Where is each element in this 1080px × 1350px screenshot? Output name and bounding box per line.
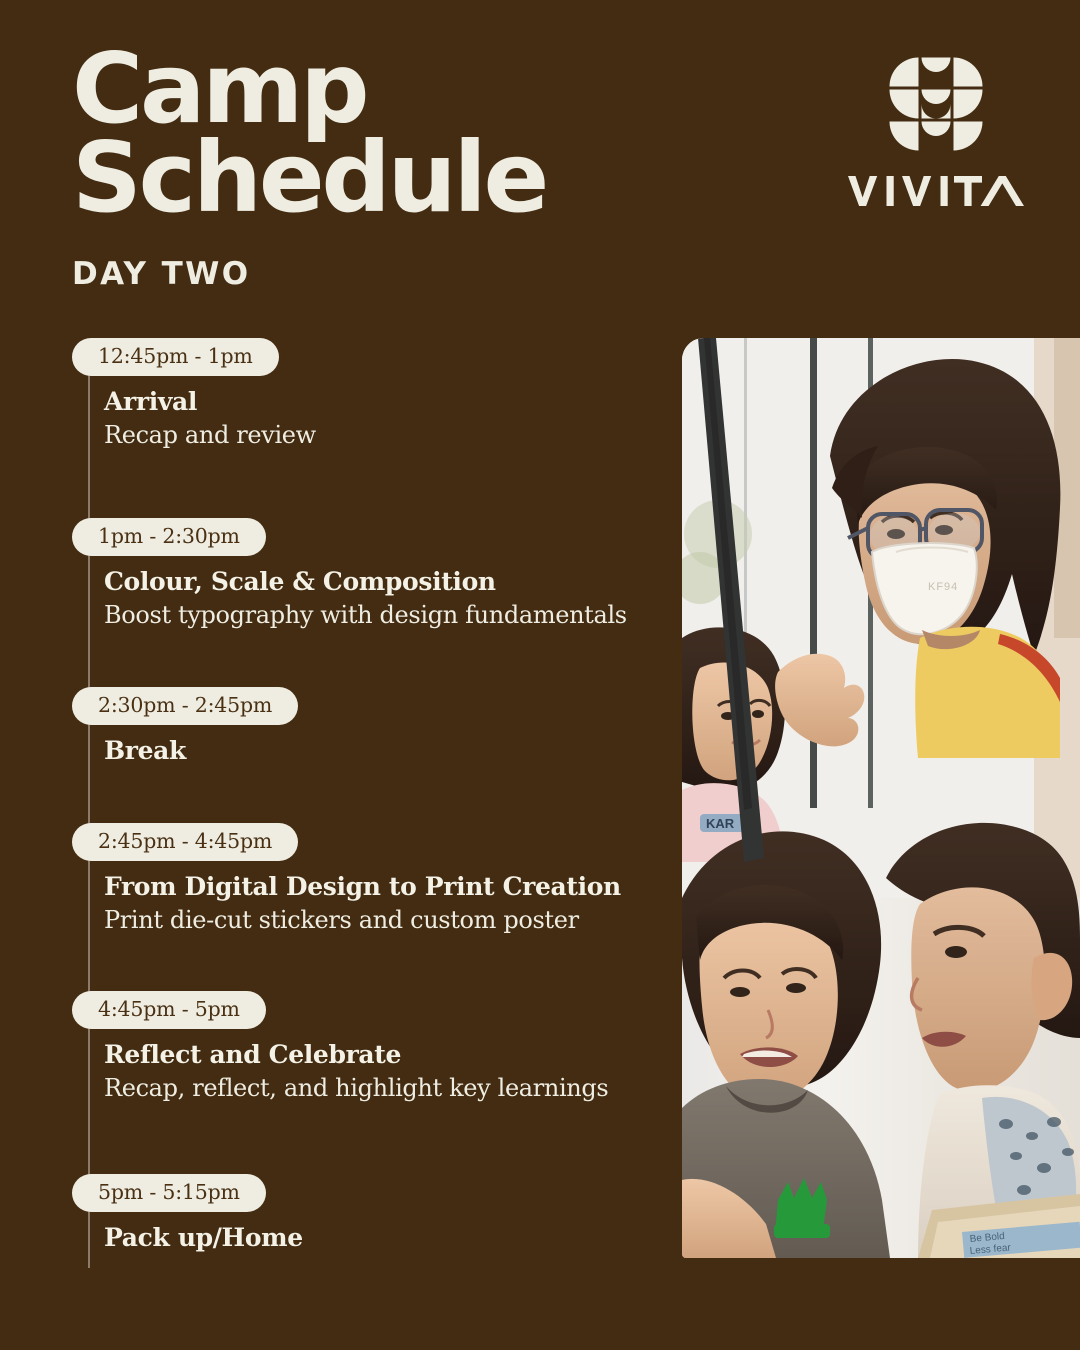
vivita-wordmark <box>848 174 1024 208</box>
time-badge: 4:45pm - 5pm <box>72 991 266 1029</box>
item-title: Reflect and Celebrate <box>104 1039 672 1070</box>
page-subtitle: DAY TWO <box>72 256 692 292</box>
poster-root: Camp Schedule DAY TWO <box>0 0 1080 1350</box>
item-description: Recap, reflect, and highlight key learni… <box>104 1073 672 1104</box>
schedule-item[interactable]: 12:45pm - 1pm Arrival Recap and review <box>72 338 672 451</box>
item-description: Recap and review <box>104 420 672 451</box>
schedule-item[interactable]: 2:30pm - 2:45pm Break <box>72 687 672 769</box>
brand-logo <box>848 56 1024 208</box>
item-description: Boost typography with design fundamental… <box>104 600 672 631</box>
item-title: Colour, Scale & Composition <box>104 566 672 597</box>
vivita-flower-icon <box>888 56 984 152</box>
schedule-item[interactable]: 1pm - 2:30pm Colour, Scale & Composition… <box>72 518 672 631</box>
camp-photo-illustration: KF94 KAR <box>682 338 1080 1258</box>
title-block: Camp Schedule DAY TWO <box>72 44 692 292</box>
item-body: From Digital Design to Print Creation Pr… <box>72 871 672 936</box>
schedule-item[interactable]: 5pm - 5:15pm Pack up/Home <box>72 1174 672 1256</box>
schedule-item[interactable]: 2:45pm - 4:45pm From Digital Design to P… <box>72 823 672 936</box>
item-body: Colour, Scale & Composition Boost typogr… <box>72 566 672 631</box>
item-title: Arrival <box>104 386 672 417</box>
item-body: Break <box>72 735 672 766</box>
item-body: Pack up/Home <box>72 1222 672 1253</box>
schedule-item[interactable]: 4:45pm - 5pm Reflect and Celebrate Recap… <box>72 991 672 1104</box>
item-title: From Digital Design to Print Creation <box>104 871 672 902</box>
timeline-rail <box>88 344 90 1268</box>
time-badge: 12:45pm - 1pm <box>72 338 279 376</box>
item-body: Arrival Recap and review <box>72 386 672 451</box>
item-body: Reflect and Celebrate Recap, reflect, an… <box>72 1039 672 1104</box>
time-badge: 2:45pm - 4:45pm <box>72 823 298 861</box>
time-badge: 2:30pm - 2:45pm <box>72 687 298 725</box>
camp-photo: KF94 KAR <box>682 338 1080 1258</box>
item-title: Pack up/Home <box>104 1222 672 1253</box>
time-badge: 5pm - 5:15pm <box>72 1174 266 1212</box>
item-title: Break <box>104 735 672 766</box>
page-title: Camp Schedule <box>72 44 692 222</box>
time-badge: 1pm - 2:30pm <box>72 518 266 556</box>
item-description: Print die-cut stickers and custom poster <box>104 905 672 936</box>
schedule-timeline: 12:45pm - 1pm Arrival Recap and review 1… <box>72 338 672 1268</box>
